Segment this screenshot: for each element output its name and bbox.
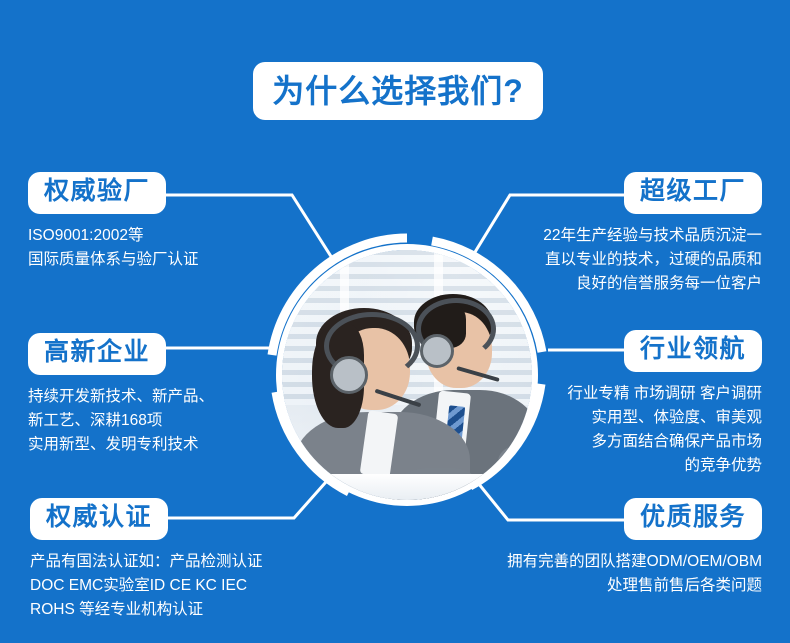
feature-right-3: 优质服务 拥有完善的团队搭建ODM/OEM/OBM 处理售前售后各类问题 xyxy=(402,498,762,598)
feature-left-1: 权威验厂 ISO9001:2002等 国际质量体系与验厂认证 xyxy=(28,172,199,272)
page-title: 为什么选择我们? xyxy=(253,62,543,120)
feature-badge[interactable]: 权威验厂 xyxy=(28,172,166,214)
feature-description: ISO9001:2002等 国际质量体系与验厂认证 xyxy=(28,224,199,272)
feature-description: 22年生产经验与技术品质沉淀一 直以专业的技术，过硬的品质和 良好的信誉服务每一… xyxy=(432,224,762,296)
feature-description: 持续开发新技术、新产品、 新工艺、深耕168项 实用新型、发明专利技术 xyxy=(28,385,214,457)
feature-right-1: 超级工厂 22年生产经验与技术品质沉淀一 直以专业的技术，过硬的品质和 良好的信… xyxy=(432,172,762,296)
feature-description: 拥有完善的团队搭建ODM/OEM/OBM 处理售前售后各类问题 xyxy=(402,550,762,598)
photo-desk xyxy=(282,474,532,500)
feature-right-2: 行业领航 行业专精 市场调研 客户调研 实用型、体验度、审美观 多方面结合确保产… xyxy=(462,330,762,478)
feature-badge-label: 高新企业 xyxy=(44,339,150,367)
agent-female xyxy=(300,308,465,500)
feature-badge[interactable]: 行业领航 xyxy=(624,330,762,372)
why-choose-us-poster: 为什么选择我们? 权威验厂 ISO9001:2002等 国际质量体系与验厂认证 … xyxy=(0,0,790,643)
feature-description: 产品有国法认证如：产品检测认证 DOC EMC实验室ID CE KC IEC R… xyxy=(30,550,263,622)
feature-badge[interactable]: 优质服务 xyxy=(624,498,762,540)
feature-badge-label: 优质服务 xyxy=(640,504,746,532)
feature-left-3: 权威认证 产品有国法认证如：产品检测认证 DOC EMC实验室ID CE KC … xyxy=(30,498,263,622)
feature-badge[interactable]: 高新企业 xyxy=(28,333,166,375)
feature-badge[interactable]: 权威认证 xyxy=(30,498,168,540)
feature-description: 行业专精 市场调研 客户调研 实用型、体验度、审美观 多方面结合确保产品市场 的… xyxy=(462,382,762,478)
feature-left-2: 高新企业 持续开发新技术、新产品、 新工艺、深耕168项 实用新型、发明专利技术 xyxy=(28,333,214,457)
feature-badge-label: 权威验厂 xyxy=(44,178,150,206)
feature-badge-label: 超级工厂 xyxy=(640,178,746,206)
feature-badge[interactable]: 超级工厂 xyxy=(624,172,762,214)
feature-badge-label: 权威认证 xyxy=(46,504,152,532)
feature-badge-label: 行业领航 xyxy=(640,336,746,364)
page-title-text: 为什么选择我们? xyxy=(272,75,524,107)
